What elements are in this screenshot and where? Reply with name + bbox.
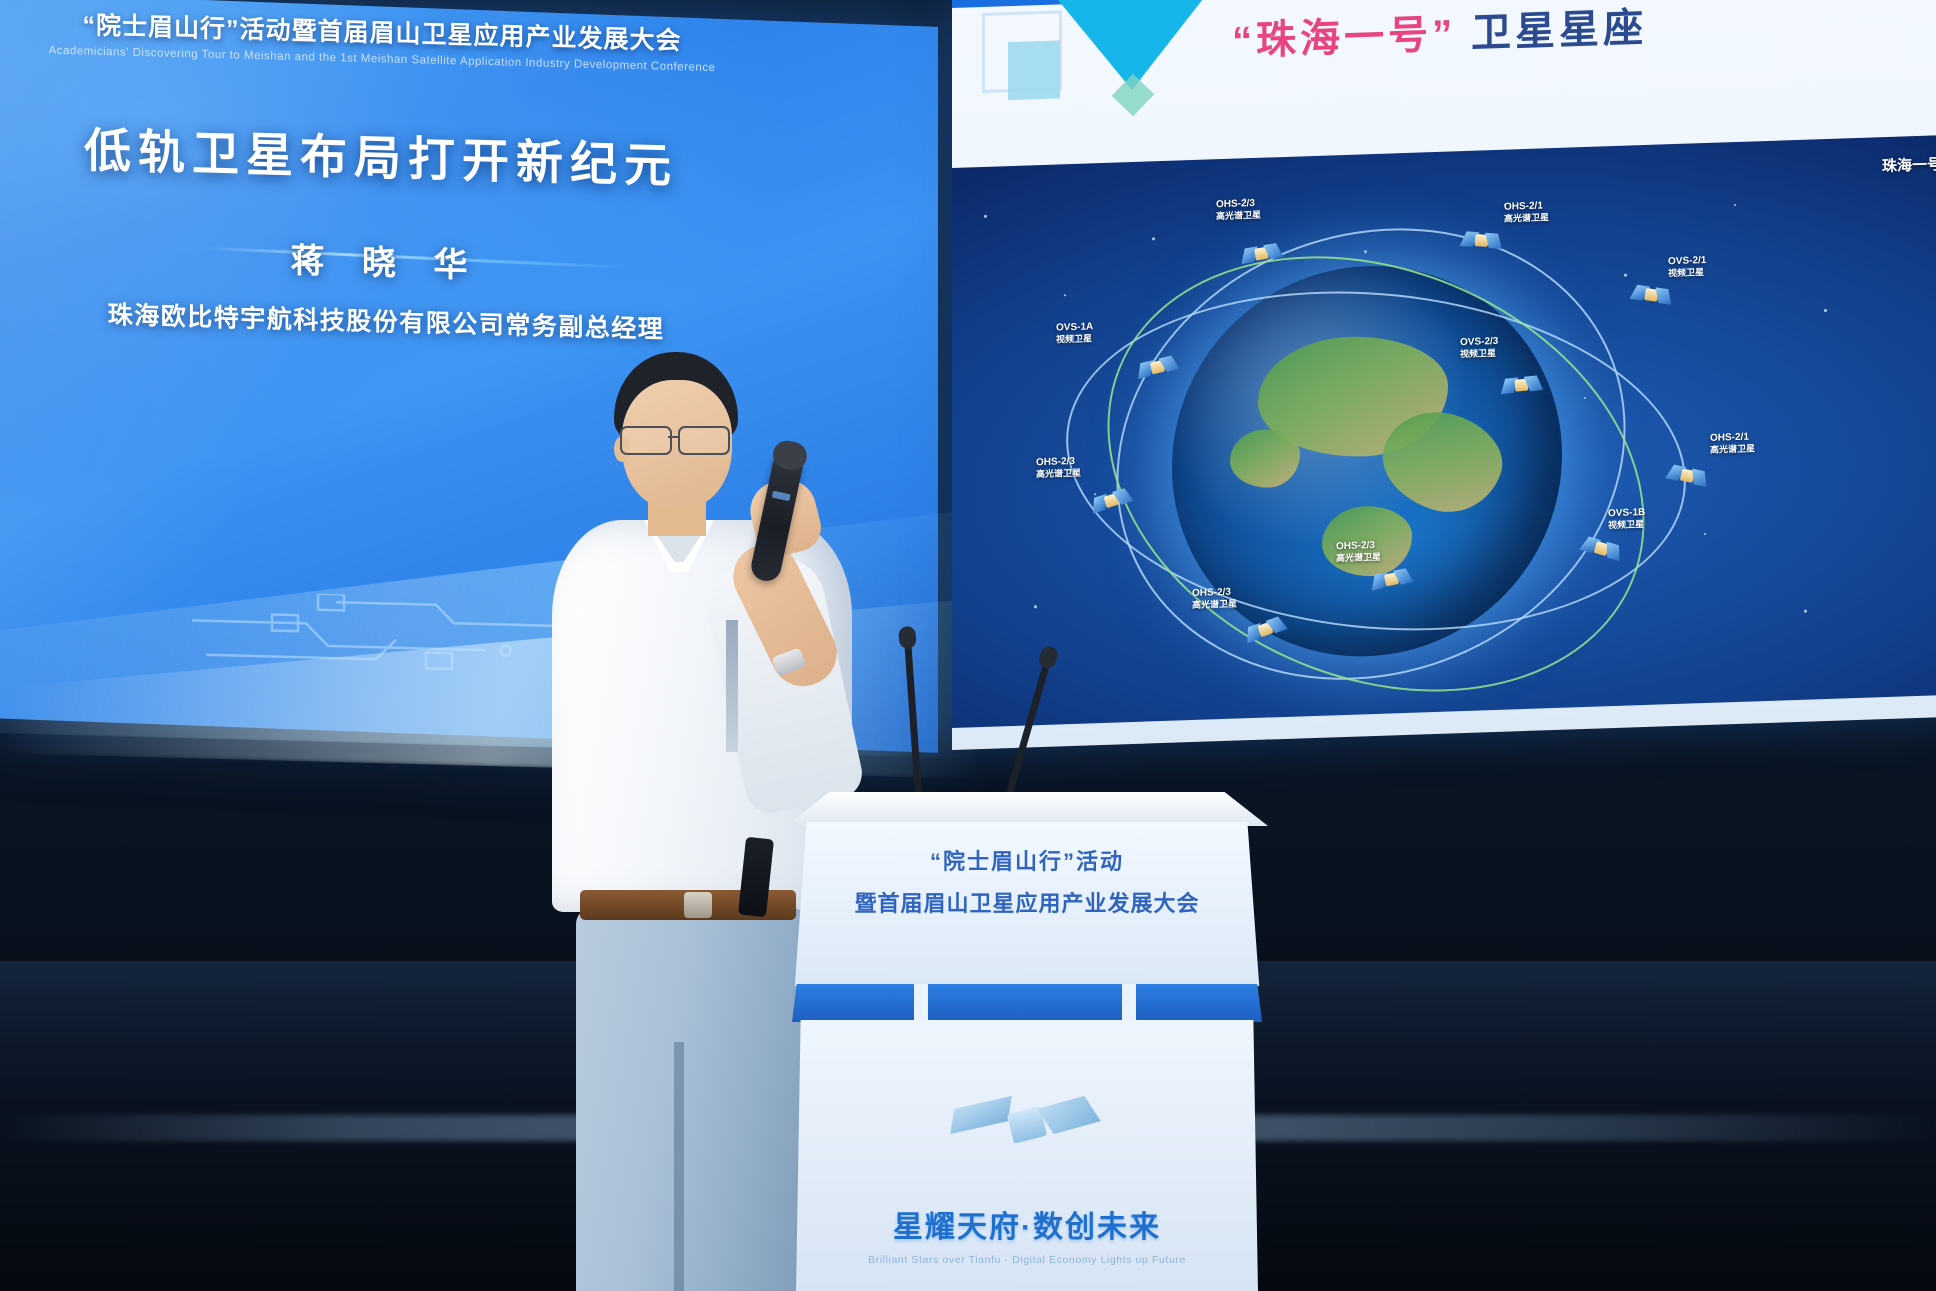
conference-header-en: Academicians' Discovering Tour to Meisha…	[2, 43, 762, 75]
belt-buckle	[684, 892, 712, 918]
speaker-jeans	[576, 908, 808, 1291]
satellite-icon-5	[1503, 373, 1538, 396]
lectern-sign: “院士眉山行”活动 暨首届眉山卫星应用产业发展大会	[790, 844, 1264, 918]
presentation-title: 低轨卫星布局打开新纪元	[0, 109, 776, 199]
lectern: “院士眉山行”活动 暨首届眉山卫星应用产业发展大会 星耀天府·数创未来 Bril…	[786, 792, 1268, 1291]
lectern-blue-band	[792, 984, 1262, 1022]
satellite-label-5: OVS-2/3视频卫星	[1460, 336, 1498, 362]
lectern-satellite-icon	[952, 1076, 1102, 1172]
satellite-label-4: OVS-2/1视频卫星	[1668, 255, 1706, 281]
satellite-label-9: OHS-2/3高光谱卫星	[1336, 540, 1381, 566]
jeans-inseam	[674, 1042, 684, 1291]
screenshot-root: “院士眉山行”活动暨首届眉山卫星应用产业发展大会 Academicians' D…	[0, 0, 1936, 1291]
satellite-label-3: OHS-2/1高光谱卫星	[1504, 200, 1549, 226]
speaker-name: 蒋 晓 华	[0, 225, 786, 295]
lectern-lower-panel: 星耀天府·数创未来 Brilliant Stars over Tianfu · …	[796, 1020, 1258, 1291]
satellite-label-1: OVS-1A视频卫星	[1056, 321, 1093, 347]
right-screen-title: “珠海一号” 卫星星座	[1232, 0, 1647, 67]
lanyard-strap	[726, 620, 738, 752]
satellite-constellation-diagram: OVS-1A视频卫星 OHS-2/3高光谱卫星 OHS-2/1高光谱卫星 OVS…	[952, 135, 1936, 729]
satellite-label-10: OHS-2/3高光谱卫星	[1192, 587, 1237, 613]
satellite-label-7: OHS-2/1高光谱卫星	[1710, 431, 1755, 457]
lectern-slogan: 星耀天府·数创未来 Brilliant Stars over Tianfu · …	[796, 1202, 1258, 1266]
title-divider-line	[201, 246, 631, 269]
lectern-sign-line2: 暨首届眉山卫星应用产业发展大会	[790, 886, 1264, 918]
lectern-sign-line1: “院士眉山行”活动	[790, 844, 1264, 876]
right-screen-title-quoted: “珠海一号”	[1232, 12, 1456, 63]
lectern-slogan-cn: 星耀天府·数创未来	[796, 1202, 1258, 1246]
lectern-front-panel: “院士眉山行”活动 暨首届眉山卫星应用产业发展大会	[790, 822, 1264, 986]
right-screen-corner-label: 珠海一号	[1882, 153, 1936, 176]
right-projection-screen: “珠海一号” 卫星星座	[952, 0, 1936, 750]
eyeglasses-icon	[616, 426, 742, 452]
conference-header: “院士眉山行”活动暨首届眉山卫星应用产业发展大会 Academicians' D…	[2, 3, 762, 75]
lectern-slogan-en: Brilliant Stars over Tianfu · Digital Ec…	[796, 1254, 1258, 1266]
lectern-top-surface	[786, 792, 1268, 826]
speaker-organization: 珠海欧比特宇航科技股份有限公司常务副总经理	[0, 292, 786, 349]
satellite-label-6: OHS-2/3高光谱卫星	[1036, 456, 1081, 482]
right-screen-title-rest: 卫星星座	[1456, 6, 1647, 56]
satellite-label-2: OHS-2/3高光谱卫星	[1216, 198, 1261, 224]
satellite-icon-3	[1463, 229, 1499, 251]
satellite-label-8: OVS-1B视频卫星	[1608, 507, 1645, 533]
